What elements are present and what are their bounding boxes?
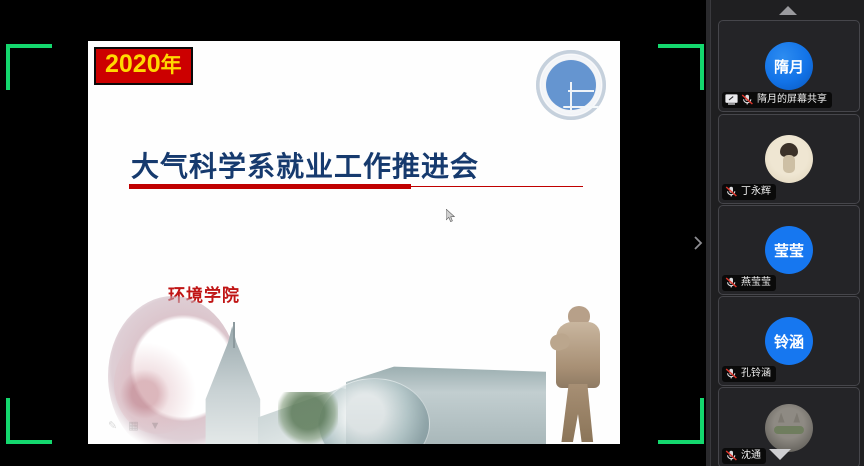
- avatar: 莹莹: [765, 226, 813, 274]
- slide-title: 大气科学系就业工作推进会: [131, 145, 479, 185]
- title-underline-thick: [129, 184, 411, 189]
- participant-tile[interactable]: 莹莹 燕莹莹: [718, 205, 860, 295]
- participant-name: 丁永辉: [741, 185, 771, 198]
- participant-name: 孔铃涵: [741, 367, 771, 380]
- participant-tile[interactable]: 隋月 隋月的屏幕共享: [718, 20, 860, 112]
- year-badge-number: 2020: [105, 50, 161, 78]
- participant-name: 隋月的屏幕共享: [757, 93, 827, 106]
- pen-icon[interactable]: ✎: [108, 421, 117, 432]
- church-spire-graphic: [233, 322, 235, 348]
- statue-legs: [560, 384, 596, 442]
- avatar: [765, 135, 813, 183]
- slide-campus-collage: [88, 284, 620, 444]
- participant-name-bar: 沈通: [722, 448, 766, 464]
- year-badge-suffix: 年: [161, 54, 182, 77]
- trees-graphic: [278, 392, 338, 444]
- mic-muted-icon: [741, 94, 754, 105]
- participant-tile[interactable]: 铃涵 孔铃涵: [718, 296, 860, 386]
- participant-name-bar: 燕莹莹: [722, 275, 776, 291]
- participant-name: 沈通: [741, 449, 761, 462]
- shared-screen-region: 2020年 大气科学系就业工作推进会 环境学院: [0, 0, 710, 466]
- meeting-screen-share-window: 2020年 大气科学系就业工作推进会 环境学院: [0, 0, 864, 466]
- share-border-corner-bottom-left: [6, 398, 52, 444]
- avatar: [765, 404, 813, 452]
- screen-share-icon: [725, 94, 738, 105]
- mic-muted-icon: [725, 277, 738, 288]
- avatar: 铃涵: [765, 317, 813, 365]
- presentation-slide: 2020年 大气科学系就业工作推进会 环境学院: [88, 41, 620, 444]
- university-seal-icon: [536, 50, 606, 120]
- share-border-corner-bottom-right: [658, 398, 704, 444]
- pointer-icon[interactable]: ▼: [150, 421, 161, 432]
- scroll-up-arrow-icon: [779, 6, 797, 15]
- presentation-toolbar[interactable]: ✎ ▦ ▼: [108, 421, 161, 432]
- mic-muted-icon: [725, 450, 738, 461]
- statue-body: [556, 322, 600, 388]
- mouse-pointer-cursor: [446, 209, 456, 223]
- title-underline-thin: [411, 186, 583, 187]
- sidebar-scroll-down-button[interactable]: [769, 449, 791, 460]
- slide-view-icon[interactable]: ▦: [128, 421, 138, 432]
- avatar: 隋月: [765, 42, 813, 90]
- mic-muted-icon: [725, 186, 738, 197]
- participant-name-bar: 隋月的屏幕共享: [722, 92, 832, 108]
- bronze-statue-graphic: [548, 304, 606, 444]
- seal-text-ring: [536, 50, 606, 120]
- participant-name-bar: 孔铃涵: [722, 366, 776, 382]
- share-border-corner-top-left: [6, 44, 52, 90]
- mic-muted-icon: [725, 368, 738, 379]
- share-border-corner-top-right: [658, 44, 704, 90]
- participant-sidebar: 隋月 隋月的屏幕共享: [710, 0, 864, 466]
- sidebar-scroll-up-button[interactable]: [711, 2, 864, 18]
- year-badge: 2020年: [94, 47, 193, 85]
- collapse-panel-chevron-icon[interactable]: [692, 234, 704, 252]
- participant-tile[interactable]: 丁永辉: [718, 114, 860, 204]
- participant-name: 燕莹莹: [741, 276, 771, 289]
- blossom-graphic: [114, 334, 202, 434]
- participant-name-bar: 丁永辉: [722, 184, 776, 200]
